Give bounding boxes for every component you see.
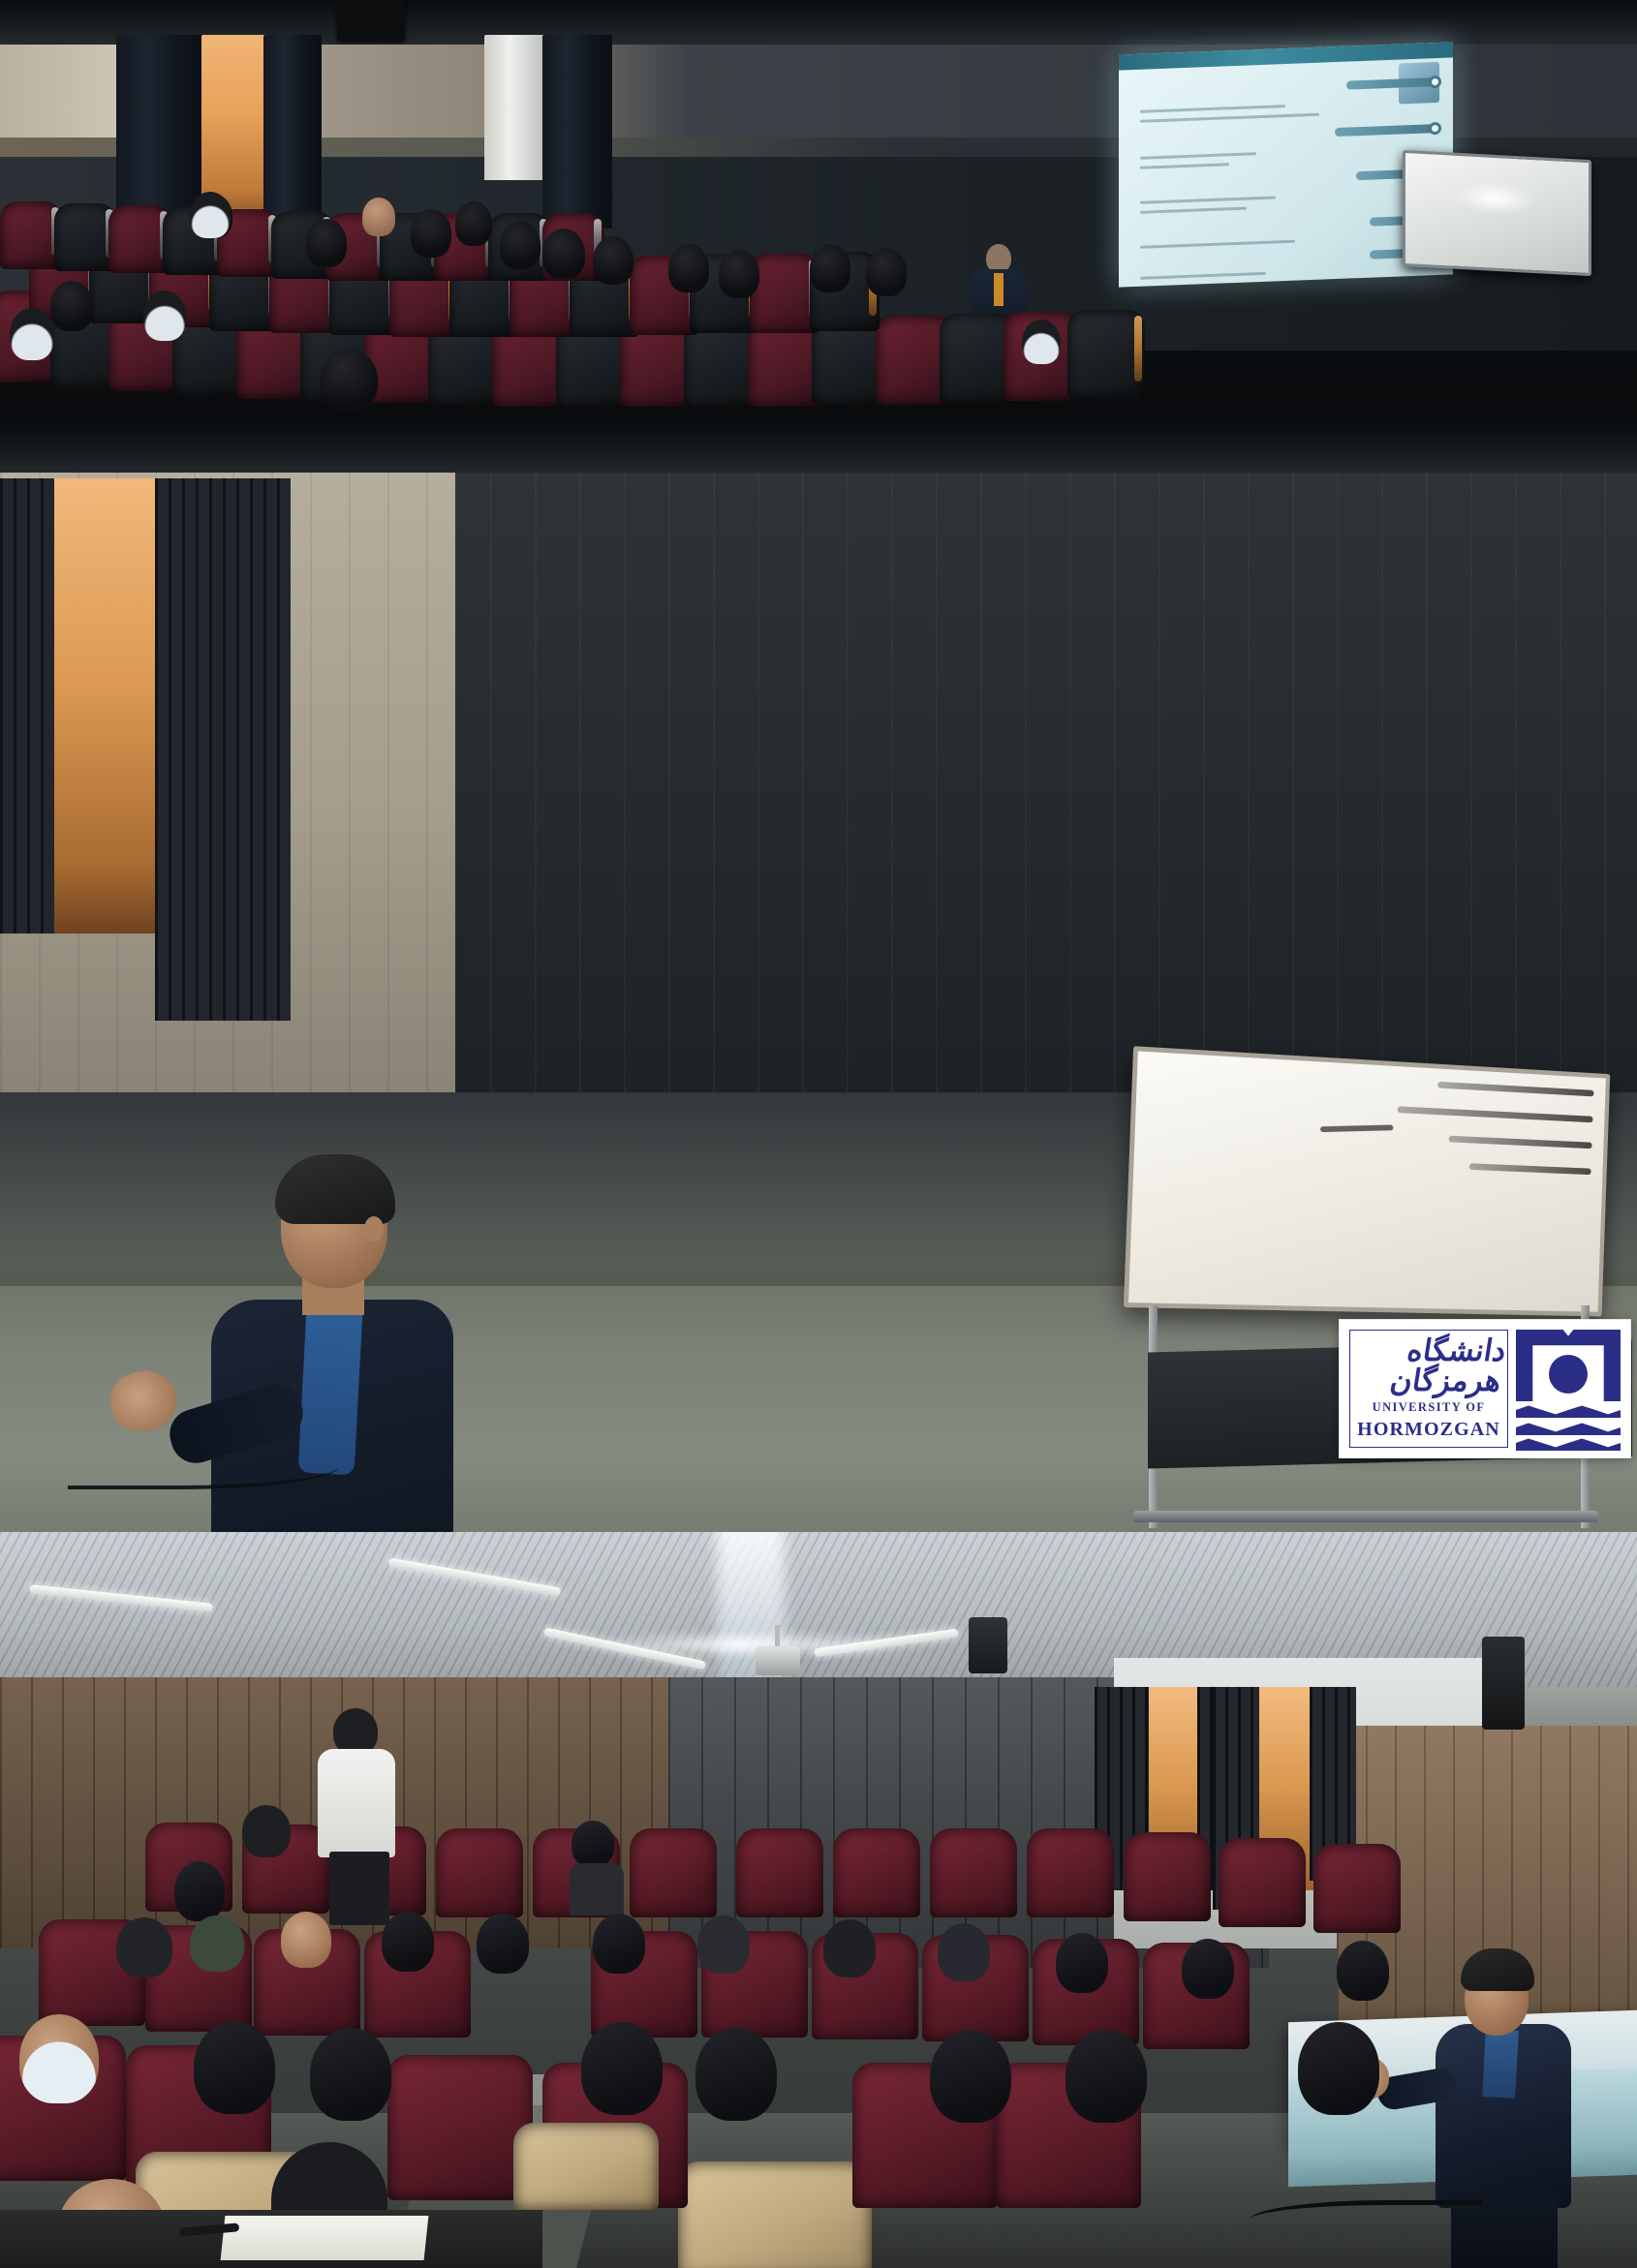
presenter-hair	[1461, 1948, 1534, 1991]
ceiling-projector	[756, 1646, 800, 1675]
audience-person-hijab	[1337, 1941, 1401, 2024]
audience-person-hijab	[1298, 2022, 1391, 2146]
university-of-hormozgan-logo: دانشگاه هرمزگان UNIVERSITY OF HORMOZGAN	[1339, 1319, 1631, 1458]
audience-person-hijab	[581, 2022, 674, 2146]
curtain-dark	[263, 35, 322, 229]
photo-collage: ایران تلنت فرصت های شغلی شرکت ها آموزش و…	[0, 0, 1637, 2268]
audience-person-hijab	[695, 2028, 788, 2152]
ceiling-speaker-icon	[337, 0, 405, 41]
audience-person-hijab	[477, 1914, 541, 1997]
logo-english-line-1: UNIVERSITY OF	[1373, 1400, 1486, 1415]
logo-persian-title: دانشگاه هرمزگان	[1349, 1336, 1508, 1396]
window	[484, 35, 548, 180]
presenter-ear	[364, 1216, 384, 1241]
ceiling-speaker-icon	[969, 1617, 1007, 1673]
audience-person-hijab	[310, 2028, 403, 2152]
audience-person-hijab	[593, 1914, 657, 1997]
presenter-hair	[275, 1154, 395, 1224]
audience-person-hijab	[194, 2021, 287, 2145]
panel-top-auditorium-wide	[0, 0, 1637, 418]
ceiling	[0, 418, 1637, 476]
standing-attendee-white-shirt	[316, 1708, 403, 1921]
logo-text-block: دانشگاه هرمزگان UNIVERSITY OF HORMOZGAN	[1349, 1330, 1508, 1448]
audience-person-hijab	[1056, 1933, 1120, 2016]
logo-english-line-2: HORMOZGAN	[1357, 1419, 1500, 1441]
panel-bottom-audience	[0, 1532, 1637, 2268]
audience-person	[281, 1912, 345, 1995]
audience-person-hijab	[382, 1912, 446, 1995]
curtain-dark	[116, 35, 203, 229]
room-shell	[0, 1532, 1637, 2268]
curtain-dark	[155, 478, 291, 1021]
whiteboard-notes	[1377, 1079, 1594, 1195]
whiteboard	[1124, 1046, 1610, 1316]
curtain-dark	[0, 478, 58, 934]
whiteboard	[1403, 150, 1591, 276]
presenter-shirt	[1482, 2029, 1519, 2099]
wall-speaker-icon	[1482, 1637, 1525, 1730]
audience-person-hijab	[1066, 2030, 1158, 2154]
audience-person-standing	[571, 1821, 639, 1908]
curtain-orange	[54, 478, 159, 934]
audience-person-hijab	[930, 2030, 1023, 2154]
audience-person-cap	[190, 1916, 254, 1999]
open-book-with-waves-icon	[1516, 1330, 1621, 1448]
audience-person	[697, 1916, 761, 1999]
audience-person	[823, 1919, 887, 2003]
audience-person	[242, 1805, 298, 1877]
audience-person-mask	[19, 2014, 116, 2140]
whiteboard-base	[1133, 1511, 1598, 1522]
paper-sheet	[221, 2216, 429, 2260]
audience-person	[116, 1917, 184, 2005]
curtain-dark	[542, 35, 612, 229]
audience-person	[938, 1923, 1002, 2007]
room-shell	[0, 0, 1637, 418]
audience-person-hijab	[1182, 1939, 1246, 2022]
